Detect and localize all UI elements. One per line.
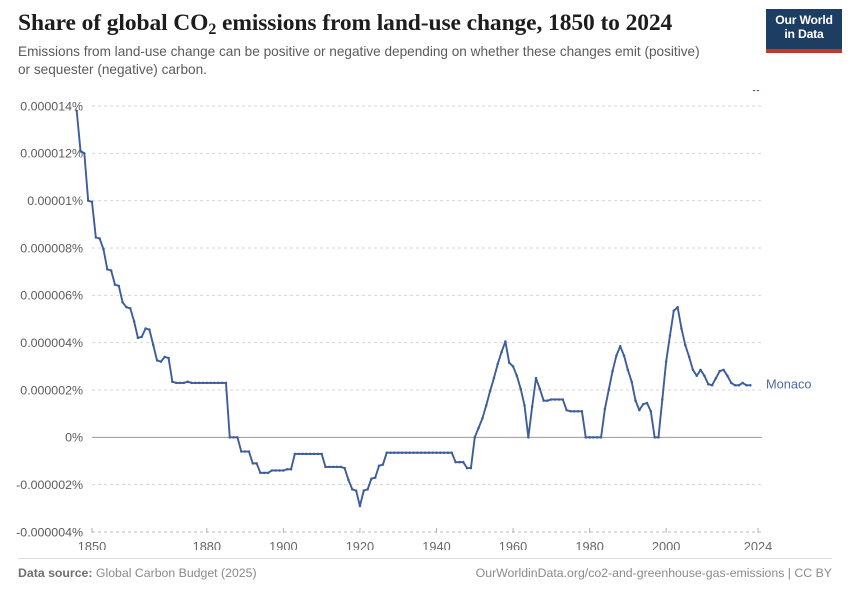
series-data-point[interactable] <box>133 320 136 323</box>
series-data-point[interactable] <box>87 199 90 202</box>
series-data-point[interactable] <box>493 377 496 380</box>
series-data-point[interactable] <box>137 337 140 340</box>
series-data-point[interactable] <box>202 382 205 385</box>
series-data-point[interactable] <box>217 382 220 385</box>
series-data-point[interactable] <box>627 369 630 372</box>
title-subscript: 2 <box>208 21 216 38</box>
series-data-point[interactable] <box>255 462 258 465</box>
series-data-point[interactable] <box>673 309 676 312</box>
x-axis-tick-labels: 185018801900192019401960198020002024 <box>78 528 772 550</box>
series-data-point[interactable] <box>393 451 396 454</box>
series-data-point[interactable] <box>240 450 243 453</box>
data-source-value: Global Carbon Budget (2025) <box>93 566 257 580</box>
series-data-point[interactable] <box>148 328 151 331</box>
series-data-point[interactable] <box>676 306 679 309</box>
series-data-point[interactable] <box>470 467 473 470</box>
series-data-point[interactable] <box>206 382 209 385</box>
logo-line-1: Our World <box>766 14 842 28</box>
series-data-point[interactable] <box>343 467 346 470</box>
series-data-point[interactable] <box>313 453 316 456</box>
series-data-point[interactable] <box>412 451 415 454</box>
series-data-point[interactable] <box>416 451 419 454</box>
series-data-point[interactable] <box>512 365 515 368</box>
series-data-point[interactable] <box>726 375 729 378</box>
series-data-point[interactable] <box>615 354 618 357</box>
y-axis-tick-labels: 0.000014%0.000012%0.00001%0.000008%0.000… <box>16 99 83 539</box>
series-data-point[interactable] <box>554 398 557 401</box>
series-data-point[interactable] <box>439 451 442 454</box>
series-data-point[interactable] <box>745 384 748 387</box>
footer-divider <box>18 558 832 559</box>
series-data-point[interactable] <box>144 327 147 330</box>
y-axis-tick-label: 0.000004% <box>20 336 83 350</box>
series-data-point[interactable] <box>98 237 101 240</box>
series-data-point[interactable] <box>550 398 553 401</box>
series-data-point[interactable] <box>707 383 710 386</box>
owid-logo[interactable]: Our World in Data <box>766 9 842 53</box>
series-data-point[interactable] <box>611 370 614 373</box>
series-data-point[interactable] <box>156 359 159 362</box>
x-axis-tick-label: 1850 <box>78 539 106 550</box>
series-data-point[interactable] <box>198 382 201 385</box>
series-data-point[interactable] <box>496 363 499 366</box>
series-data-point[interactable] <box>451 451 454 454</box>
x-axis-tick-label: 1880 <box>193 539 221 550</box>
series-data-point[interactable] <box>489 390 492 393</box>
series-data-point[interactable] <box>454 461 457 464</box>
series-data-point[interactable] <box>332 466 335 469</box>
x-axis-tick-label: 1900 <box>269 539 297 550</box>
series-data-point[interactable] <box>604 408 607 411</box>
series-data-point[interactable] <box>623 354 626 357</box>
series-data-point[interactable] <box>320 453 323 456</box>
series-data-point[interactable] <box>519 388 522 391</box>
series-data-point[interactable] <box>351 488 354 491</box>
series-data-point[interactable] <box>286 468 289 471</box>
series-data-point[interactable] <box>481 417 484 420</box>
series-data-point[interactable] <box>163 356 166 359</box>
series-data-point[interactable] <box>79 150 82 153</box>
series-data-point[interactable] <box>290 468 293 471</box>
series-data-point[interactable] <box>546 399 549 402</box>
series-data-point[interactable] <box>236 436 239 439</box>
chart-page: Share of global CO2 emissions from land-… <box>0 0 850 600</box>
series-data-point[interactable] <box>229 436 232 439</box>
series-data-point[interactable] <box>657 436 660 439</box>
footer-link[interactable]: OurWorldinData.org/co2-and-greenhouse-ga… <box>476 566 832 580</box>
data-source-label: Data source: <box>18 566 93 580</box>
series-data-point[interactable] <box>718 370 721 373</box>
series-data-point[interactable] <box>730 382 733 385</box>
series-data-point[interactable] <box>309 453 312 456</box>
x-axis-tick-label: 2000 <box>652 539 680 550</box>
series-data-point[interactable] <box>301 453 304 456</box>
series-data-point[interactable] <box>619 345 622 348</box>
series-data-point[interactable] <box>324 466 327 469</box>
data-source: Data source: Global Carbon Budget (2025) <box>18 566 257 580</box>
series-data-point[interactable] <box>516 375 519 378</box>
series-data-point[interactable] <box>653 436 656 439</box>
series-data-point[interactable] <box>389 451 392 454</box>
series-data-point[interactable] <box>110 269 113 272</box>
series-data-point[interactable] <box>527 436 530 439</box>
series-data-point[interactable] <box>539 388 542 391</box>
series-data-point[interactable] <box>542 399 545 402</box>
series-data-point[interactable] <box>278 469 281 472</box>
series-data-point[interactable] <box>125 306 128 309</box>
series-data-point[interactable] <box>757 90 760 91</box>
series-data-point[interactable] <box>294 453 297 456</box>
x-axis-tick-label: 1960 <box>499 539 527 550</box>
y-axis-tick-label: 0.000014% <box>20 99 83 113</box>
series-data-point[interactable] <box>607 389 610 392</box>
series-data-point[interactable] <box>485 404 488 407</box>
series-data-point[interactable] <box>669 334 672 337</box>
series-data-point[interactable] <box>722 369 725 372</box>
series-data-point[interactable] <box>175 382 178 385</box>
series-data-point[interactable] <box>565 409 568 412</box>
series-data-point[interactable] <box>596 436 599 439</box>
y-axis-tick-label: 0.00001% <box>27 194 83 208</box>
y-axis-tick-label: 0.000002% <box>20 383 83 397</box>
series-data-point[interactable] <box>741 382 744 385</box>
series-data-point[interactable] <box>179 382 182 385</box>
series-data-point[interactable] <box>95 236 98 239</box>
page-title: Share of global CO2 emissions from land-… <box>18 10 748 36</box>
chart-subtitle: Emissions from land-use change can be po… <box>18 43 708 79</box>
series-data-point[interactable] <box>734 384 737 387</box>
chart-header: Share of global CO2 emissions from land-… <box>18 10 748 79</box>
series-data-point[interactable] <box>680 327 683 330</box>
series-data-point[interactable] <box>474 436 477 439</box>
series-data-point[interactable] <box>508 362 511 365</box>
series-data-point[interactable] <box>592 436 595 439</box>
series-data-point[interactable] <box>194 382 197 385</box>
series-data-point[interactable] <box>336 466 339 469</box>
series-data-point[interactable] <box>355 489 358 492</box>
series-data-point[interactable] <box>183 382 186 385</box>
series-data-point[interactable] <box>477 427 480 430</box>
series-data-point[interactable] <box>382 463 385 466</box>
series-data-point[interactable] <box>83 152 86 155</box>
series-data-point[interactable] <box>466 467 469 470</box>
gridlines <box>92 106 762 532</box>
series-data-point[interactable] <box>160 360 163 363</box>
series-name-label: Monaco <box>766 377 812 392</box>
series-data-point[interactable] <box>408 451 411 454</box>
series-data-point[interactable] <box>715 377 718 380</box>
x-axis-tick-label: 1980 <box>575 539 603 550</box>
series-data-point[interactable] <box>317 453 320 456</box>
series-data-point[interactable] <box>209 382 212 385</box>
series-data-point[interactable] <box>420 451 423 454</box>
series-data-point[interactable] <box>305 453 308 456</box>
series-data-point[interactable] <box>121 301 124 304</box>
series-data-point[interactable] <box>106 268 109 271</box>
series-data-point[interactable] <box>248 450 251 453</box>
series-data-point[interactable] <box>186 380 189 383</box>
series-data-point[interactable] <box>221 382 224 385</box>
series-data-point[interactable] <box>359 505 362 508</box>
y-axis-tick-label: -0.000002% <box>16 478 83 492</box>
series-data-point[interactable] <box>642 403 645 406</box>
chart-plot-area[interactable]: 0.000014%0.000012%0.00001%0.000008%0.000… <box>0 90 850 550</box>
series-data-point[interactable] <box>531 405 534 408</box>
series-data-point[interactable] <box>504 340 507 343</box>
title-prefix: Share of global CO <box>18 10 208 36</box>
series-data-point[interactable] <box>535 377 538 380</box>
logo-line-2: in Data <box>766 28 842 42</box>
series-data-point[interactable] <box>405 451 408 454</box>
series-data-point[interactable] <box>370 478 373 481</box>
series-data-point[interactable] <box>688 356 691 359</box>
series-data-point[interactable] <box>129 307 132 310</box>
series-data-point[interactable] <box>171 380 174 383</box>
x-axis-tick-label: 2024 <box>744 539 772 550</box>
y-axis-tick-label: -0.000004% <box>16 525 83 539</box>
series-data-point[interactable] <box>711 384 714 387</box>
series-data-point[interactable] <box>661 398 664 401</box>
series-data-point[interactable] <box>167 357 170 360</box>
series-data-point[interactable] <box>141 336 144 339</box>
series-data-point[interactable] <box>397 451 400 454</box>
series-data-point[interactable] <box>190 382 193 385</box>
series-data-point[interactable] <box>424 451 427 454</box>
series-data-point[interactable] <box>646 402 649 405</box>
series-data-point[interactable] <box>558 398 561 401</box>
series-data-point[interactable] <box>102 248 105 251</box>
series-data-point[interactable] <box>118 285 121 288</box>
series-data-point[interactable] <box>340 466 343 469</box>
series-data-point[interactable] <box>634 399 637 402</box>
series-data-point[interactable] <box>363 489 366 492</box>
y-axis-tick-label: 0.000006% <box>20 289 83 303</box>
series-data-point[interactable] <box>259 472 262 475</box>
series-data-point[interactable] <box>447 451 450 454</box>
series-data-point[interactable] <box>274 469 277 472</box>
series-data-point[interactable] <box>213 382 216 385</box>
series-data-point[interactable] <box>378 464 381 467</box>
series-data-point[interactable] <box>738 384 741 387</box>
series-data-point[interactable] <box>271 469 274 472</box>
series-data-point[interactable] <box>523 404 526 407</box>
series-data-point[interactable] <box>458 461 461 464</box>
y-axis-tick-label: 0.000012% <box>20 147 83 161</box>
series-data-point[interactable] <box>443 451 446 454</box>
series-data-point[interactable] <box>581 410 584 413</box>
series-data-point[interactable] <box>428 451 431 454</box>
series-data-point[interactable] <box>114 283 117 286</box>
series-data-point[interactable] <box>630 380 633 383</box>
series-inline-label: Monaco <box>766 377 812 392</box>
series-data-point[interactable] <box>749 384 752 387</box>
series-data-point[interactable] <box>232 436 235 439</box>
series-data-point[interactable] <box>588 436 591 439</box>
series-data-point[interactable] <box>91 201 94 204</box>
series-line-monaco[interactable] <box>77 111 751 506</box>
series-data-point[interactable] <box>431 451 434 454</box>
series-data-point[interactable] <box>267 472 270 475</box>
series-data-point[interactable] <box>577 410 580 413</box>
series-data-point[interactable] <box>650 410 653 413</box>
chart-footer: Data source: Global Carbon Budget (2025)… <box>18 566 832 580</box>
series-data-point[interactable] <box>696 375 699 378</box>
series-data-point[interactable] <box>152 344 155 347</box>
series-data-point[interactable] <box>75 109 78 112</box>
x-axis-tick-label: 1940 <box>422 539 450 550</box>
series-data-point[interactable] <box>699 369 702 372</box>
series-data-point[interactable] <box>297 453 300 456</box>
series-data-point[interactable] <box>500 351 503 354</box>
series-data-point[interactable] <box>684 344 687 347</box>
series-data-point[interactable] <box>282 469 285 472</box>
series-data-point[interactable] <box>347 479 350 482</box>
series-data-point[interactable] <box>263 472 266 475</box>
series-data-point[interactable] <box>600 436 603 439</box>
series-data-point[interactable] <box>328 466 331 469</box>
series-data-point[interactable] <box>692 369 695 372</box>
series-data-point[interactable] <box>225 382 228 385</box>
line-chart-svg[interactable]: 0.000014%0.000012%0.00001%0.000008%0.000… <box>0 90 850 550</box>
x-axis-tick-label: 1920 <box>346 539 374 550</box>
y-axis-tick-label: 0.000008% <box>20 241 83 255</box>
series-data-point[interactable] <box>435 451 438 454</box>
series-data-point[interactable] <box>569 410 572 413</box>
series-data-point[interactable] <box>366 488 369 491</box>
series-data-point[interactable] <box>401 451 404 454</box>
series-data-point[interactable] <box>753 90 756 91</box>
series-data-point[interactable] <box>462 461 465 464</box>
series-data-point[interactable] <box>573 410 576 413</box>
series-data-point[interactable] <box>585 436 588 439</box>
title-suffix: emissions from land-use change, 1850 to … <box>216 10 672 36</box>
data-series[interactable] <box>75 90 759 507</box>
series-data-point[interactable] <box>638 409 641 412</box>
y-axis-tick-label: 0% <box>65 431 83 445</box>
series-data-point[interactable] <box>385 451 388 454</box>
series-data-point[interactable] <box>665 360 668 363</box>
series-data-point[interactable] <box>562 398 565 401</box>
series-data-point[interactable] <box>374 476 377 479</box>
series-data-point[interactable] <box>703 375 706 378</box>
series-data-point[interactable] <box>244 450 247 453</box>
series-data-point[interactable] <box>252 462 255 465</box>
